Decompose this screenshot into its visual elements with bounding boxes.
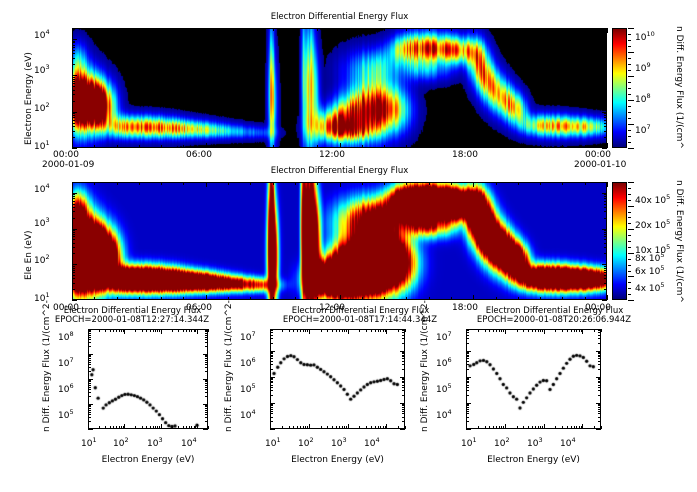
axis-tick	[183, 145, 184, 148]
axis-tick	[297, 329, 298, 332]
axis-tick	[602, 75, 607, 76]
axis-tick	[72, 112, 77, 113]
axis-tick	[72, 289, 75, 290]
axis-tick	[402, 421, 405, 422]
axis-tick	[598, 358, 601, 359]
colorbar-tick	[628, 194, 631, 195]
axis-tick	[205, 389, 208, 390]
axis-tick	[270, 352, 273, 353]
axis-tick	[124, 329, 125, 334]
axis-tick	[88, 389, 91, 390]
axis-tick	[88, 337, 91, 338]
axis-tick	[339, 329, 340, 332]
bottom-panel-2-plot[interactable]	[270, 329, 405, 429]
axis-tick	[466, 417, 469, 418]
axis-tick	[205, 356, 208, 357]
bottom-1-xtick-1: 101	[81, 436, 97, 449]
axis-tick	[72, 39, 77, 40]
axis-tick	[110, 426, 111, 429]
axis-tick	[505, 424, 506, 429]
axis-tick	[72, 131, 75, 132]
axis-tick	[88, 424, 89, 429]
axis-tick	[317, 145, 318, 148]
axis-tick	[383, 329, 384, 332]
axis-tick	[293, 426, 294, 429]
axis-tick	[406, 297, 407, 300]
axis-tick	[110, 329, 111, 332]
axis-tick	[598, 361, 601, 362]
axis-tick	[402, 395, 405, 396]
axis-tick	[604, 268, 607, 269]
middle-ytick-3: 103	[34, 216, 50, 229]
axis-tick	[493, 426, 494, 429]
axis-tick	[205, 364, 208, 365]
colorbar-tick	[628, 28, 634, 29]
axis-tick	[72, 194, 75, 195]
axis-tick	[88, 421, 91, 422]
axis-tick	[205, 392, 208, 393]
axis-tick	[466, 335, 469, 336]
axis-tick	[72, 83, 75, 84]
axis-tick	[604, 123, 607, 124]
axis-tick	[186, 329, 187, 332]
axis-tick	[228, 297, 229, 300]
colorbar-tick	[628, 182, 634, 183]
colorbar-tick	[628, 259, 631, 260]
axis-tick	[161, 329, 162, 334]
colorbar-tick	[628, 217, 631, 218]
axis-tick	[596, 429, 601, 430]
bottom-3-ytick-6: 106	[436, 356, 452, 369]
axis-tick	[466, 421, 469, 422]
axis-tick	[317, 297, 318, 300]
axis-tick	[402, 369, 405, 370]
axis-tick	[88, 383, 91, 384]
axis-tick	[466, 405, 469, 406]
top-spectrogram-plot[interactable]	[72, 28, 607, 148]
axis-tick	[295, 28, 296, 31]
colorbar-tick	[628, 212, 631, 213]
axis-tick	[604, 201, 607, 202]
colorbar-tick	[628, 76, 634, 77]
axis-tick	[72, 243, 75, 244]
axis-tick	[466, 353, 469, 354]
axis-tick	[466, 352, 469, 353]
axis-tick	[205, 346, 208, 347]
axis-tick	[528, 329, 529, 332]
axis-tick	[72, 53, 75, 54]
middle-colorbar-label: n Diff. Energy Flux (1/(cm^	[684, 180, 697, 190]
axis-tick	[601, 329, 602, 332]
axis-tick	[604, 126, 607, 127]
axis-tick	[601, 426, 602, 429]
axis-tick	[562, 426, 563, 429]
axis-tick	[386, 329, 387, 334]
axis-tick	[604, 272, 607, 273]
axis-tick	[344, 329, 345, 332]
colorbar-tick	[628, 241, 631, 242]
axis-tick	[121, 426, 122, 429]
axis-tick	[88, 429, 93, 430]
axis-tick	[540, 297, 541, 300]
axis-tick	[598, 407, 601, 408]
colorbar-tick	[628, 70, 631, 71]
axis-tick	[270, 358, 273, 359]
axis-tick	[72, 270, 75, 271]
axis-tick	[119, 426, 120, 429]
axis-tick	[205, 421, 208, 422]
axis-tick	[604, 101, 607, 102]
axis-tick	[205, 410, 208, 411]
bottom-3-ytick-4: 104	[436, 408, 452, 421]
middle-colorbar[interactable]	[612, 182, 627, 300]
axis-tick	[362, 145, 363, 148]
axis-tick	[205, 417, 208, 418]
colorbar-tick	[628, 288, 631, 289]
axis-tick	[402, 338, 405, 339]
axis-tick	[72, 196, 75, 197]
axis-tick	[270, 403, 275, 404]
axis-tick	[205, 387, 208, 388]
axis-tick	[604, 50, 607, 51]
axis-tick	[598, 387, 601, 388]
colorbar-tick	[628, 276, 634, 277]
axis-tick	[466, 381, 469, 382]
axis-tick	[604, 53, 607, 54]
axis-tick	[596, 377, 601, 378]
axis-tick	[386, 424, 387, 429]
axis-tick	[429, 297, 430, 300]
axis-tick	[205, 333, 208, 334]
axis-tick	[466, 361, 469, 362]
axis-tick	[602, 264, 607, 265]
axis-tick	[535, 426, 536, 429]
axis-tick	[598, 405, 601, 406]
axis-tick	[574, 426, 575, 429]
axis-tick	[380, 426, 381, 429]
middle-spectrogram-plot[interactable]	[72, 182, 607, 300]
axis-tick	[604, 270, 607, 271]
axis-tick	[585, 182, 586, 185]
axis-tick	[540, 145, 541, 148]
axis-tick	[88, 385, 91, 386]
colorbar-tick	[628, 247, 631, 248]
axis-tick	[342, 329, 343, 332]
axis-tick	[194, 426, 195, 429]
axis-tick	[604, 243, 607, 244]
axis-tick	[124, 424, 125, 429]
colorbar-tick	[628, 94, 631, 95]
axis-tick	[585, 28, 586, 31]
axis-tick	[270, 429, 275, 430]
axis-tick	[72, 232, 75, 233]
axis-tick	[72, 79, 75, 80]
axis-tick	[270, 379, 273, 380]
top-spectrogram-canvas	[73, 29, 606, 147]
axis-tick	[567, 329, 568, 332]
axis-tick	[466, 379, 469, 380]
axis-tick	[270, 338, 273, 339]
axis-tick	[596, 403, 601, 404]
axis-tick	[157, 329, 158, 332]
axis-tick	[250, 297, 251, 300]
axis-tick	[282, 329, 283, 332]
axis-tick	[604, 283, 607, 284]
axis-tick	[270, 421, 273, 422]
axis-tick	[466, 404, 469, 405]
axis-tick	[155, 426, 156, 429]
axis-tick	[604, 275, 607, 276]
axis-tick	[604, 218, 607, 219]
axis-tick	[332, 426, 333, 429]
axis-tick	[178, 426, 179, 429]
colorbar-tick	[628, 300, 634, 301]
axis-tick	[598, 364, 601, 365]
axis-tick	[466, 395, 469, 396]
axis-tick	[598, 404, 601, 405]
axis-tick	[499, 426, 500, 429]
axis-tick	[594, 426, 595, 429]
axis-tick	[327, 329, 328, 332]
axis-tick	[380, 329, 381, 332]
axis-tick	[297, 426, 298, 429]
axis-tick	[155, 329, 156, 332]
axis-tick	[466, 355, 469, 356]
axis-tick	[555, 426, 556, 429]
axis-tick	[327, 426, 328, 429]
axis-tick	[518, 145, 519, 148]
axis-tick	[88, 406, 91, 407]
axis-tick	[72, 247, 75, 248]
axis-tick	[88, 404, 93, 405]
colorbar-tick	[628, 265, 631, 266]
top-ytick-2: 102	[34, 101, 50, 114]
axis-tick	[72, 236, 75, 237]
axis-tick	[183, 182, 184, 185]
axis-tick	[270, 387, 273, 388]
axis-tick	[400, 403, 405, 404]
axis-tick	[562, 145, 563, 148]
top-colorbar-label: n Diff. Energy Flux (1/(cm^	[684, 26, 697, 36]
axis-tick	[295, 297, 296, 300]
bottom-panel-2-subtitle: EPOCH=2000-01-08T17:14:44.344Z	[250, 315, 470, 325]
axis-tick	[105, 329, 106, 332]
axis-tick	[523, 426, 524, 429]
axis-tick	[270, 407, 273, 408]
bottom-1-xtick-3: 103	[147, 436, 163, 449]
axis-tick	[362, 28, 363, 31]
axis-tick	[466, 424, 467, 429]
axis-tick	[205, 383, 208, 384]
axis-tick	[270, 424, 271, 429]
axis-tick	[150, 426, 151, 429]
axis-tick	[336, 329, 337, 332]
axis-tick	[604, 278, 607, 279]
axis-tick	[604, 45, 607, 46]
axis-tick	[540, 182, 541, 185]
axis-tick	[406, 182, 407, 185]
axis-tick	[72, 253, 75, 254]
axis-tick	[142, 426, 143, 429]
axis-tick	[604, 131, 607, 132]
axis-tick	[270, 385, 273, 386]
axis-tick	[466, 382, 469, 383]
axis-tick	[518, 28, 519, 31]
axis-tick	[598, 355, 601, 356]
axis-tick	[598, 369, 601, 370]
axis-tick	[574, 329, 575, 332]
axis-tick	[88, 355, 91, 356]
axis-tick	[270, 409, 273, 410]
colorbar-tick	[628, 148, 634, 149]
middle-panel-title: Electron Differential Energy Flux	[72, 166, 607, 176]
axis-tick	[604, 236, 607, 237]
top-cb-tick-8: 108	[635, 92, 651, 105]
axis-tick	[197, 329, 198, 334]
axis-tick	[72, 278, 75, 279]
axis-tick	[194, 329, 195, 332]
axis-tick	[289, 426, 290, 429]
axis-tick	[72, 75, 77, 76]
top-panel-title: Electron Differential Energy Flux	[72, 12, 607, 22]
axis-tick	[604, 90, 607, 91]
middle-ylabel: Ele En (eV)	[24, 280, 74, 290]
colorbar-tick	[628, 206, 634, 207]
axis-tick	[303, 426, 304, 429]
axis-tick	[402, 358, 405, 359]
axis-tick	[579, 329, 580, 332]
colorbar-tick	[628, 64, 631, 65]
axis-tick	[540, 426, 541, 429]
axis-tick	[598, 379, 601, 380]
axis-tick	[342, 426, 343, 429]
axis-tick	[604, 47, 607, 48]
axis-tick	[598, 417, 601, 418]
axis-tick	[270, 382, 273, 383]
axis-tick	[604, 137, 607, 138]
bottom-panel-1-plot[interactable]	[88, 329, 208, 429]
axis-tick	[582, 329, 583, 334]
axis-tick	[94, 28, 95, 31]
axis-tick	[466, 356, 469, 357]
axis-tick	[270, 381, 273, 382]
middle-cb-tick-40: 40x 105	[635, 193, 670, 206]
axis-tick	[72, 272, 75, 273]
axis-tick	[88, 371, 91, 372]
axis-tick	[270, 356, 273, 357]
axis-tick	[72, 126, 75, 127]
axis-tick	[540, 28, 541, 31]
spectrum-3-canvas	[467, 330, 600, 428]
axis-tick	[72, 47, 75, 48]
axis-tick	[604, 115, 607, 116]
axis-tick	[604, 117, 607, 118]
axis-tick	[139, 297, 140, 300]
axis-tick	[402, 355, 405, 356]
axis-tick	[466, 364, 469, 365]
axis-tick	[203, 354, 208, 355]
axis-tick	[604, 79, 607, 80]
axis-tick	[518, 182, 519, 185]
axis-tick	[206, 28, 207, 33]
colorbar-tick	[628, 253, 634, 254]
top-ytick-3: 103	[34, 63, 50, 76]
axis-tick	[604, 211, 607, 212]
axis-tick	[72, 218, 75, 219]
colorbar-tick	[628, 58, 631, 59]
axis-tick	[451, 28, 452, 31]
axis-tick	[309, 329, 310, 334]
axis-tick	[496, 28, 497, 31]
axis-tick	[496, 145, 497, 148]
axis-tick	[205, 405, 208, 406]
axis-tick	[598, 409, 601, 410]
axis-tick	[602, 112, 607, 113]
axis-tick	[117, 28, 118, 31]
axis-tick	[496, 182, 497, 185]
axis-tick	[518, 297, 519, 300]
top-xtick-3: 18:00	[452, 150, 478, 160]
axis-tick	[72, 230, 75, 231]
bottom-panel-3-subtitle: EPOCH=2000-01-08T20:26:06.944Z	[444, 315, 664, 325]
axis-tick	[203, 404, 208, 405]
axis-tick	[273, 28, 274, 31]
middle-cb-tick-8: 8x 105	[635, 251, 665, 264]
top-xtick-2: 12:00	[319, 150, 345, 160]
axis-tick	[270, 343, 273, 344]
axis-tick	[88, 354, 93, 355]
axis-tick	[384, 28, 385, 31]
axis-tick	[72, 137, 75, 138]
colorbar-tick	[628, 88, 631, 89]
axis-tick	[113, 329, 114, 332]
axis-tick	[205, 414, 208, 415]
axis-tick	[72, 268, 75, 269]
middle-cb-tick-6: 6x 105	[635, 264, 665, 277]
axis-tick	[205, 335, 208, 336]
colorbar-tick	[628, 100, 634, 101]
axis-tick	[250, 28, 251, 31]
axis-tick	[72, 193, 77, 194]
axis-tick	[607, 143, 608, 148]
bottom-panel-3-plot[interactable]	[466, 329, 601, 429]
axis-tick	[205, 380, 208, 381]
axis-tick	[585, 297, 586, 300]
axis-tick	[496, 297, 497, 300]
axis-tick	[203, 379, 208, 380]
axis-tick	[72, 101, 75, 102]
axis-tick	[517, 426, 518, 429]
axis-tick	[72, 41, 75, 42]
top-xtick-4: 00:00	[585, 150, 611, 160]
axis-tick	[72, 148, 77, 149]
axis-tick	[406, 28, 407, 31]
bottom-1-ytick-5: 105	[58, 408, 74, 421]
axis-tick	[505, 329, 506, 334]
top-colorbar[interactable]	[612, 28, 627, 148]
axis-tick	[186, 426, 187, 429]
axis-tick	[405, 329, 406, 332]
axis-tick	[72, 201, 75, 202]
axis-tick	[400, 351, 405, 352]
axis-tick	[88, 362, 91, 363]
colorbar-tick	[628, 188, 631, 189]
axis-tick	[604, 41, 607, 42]
axis-tick	[270, 378, 273, 379]
axis-tick	[604, 230, 607, 231]
axis-tick	[466, 329, 467, 334]
axis-tick	[72, 28, 73, 33]
